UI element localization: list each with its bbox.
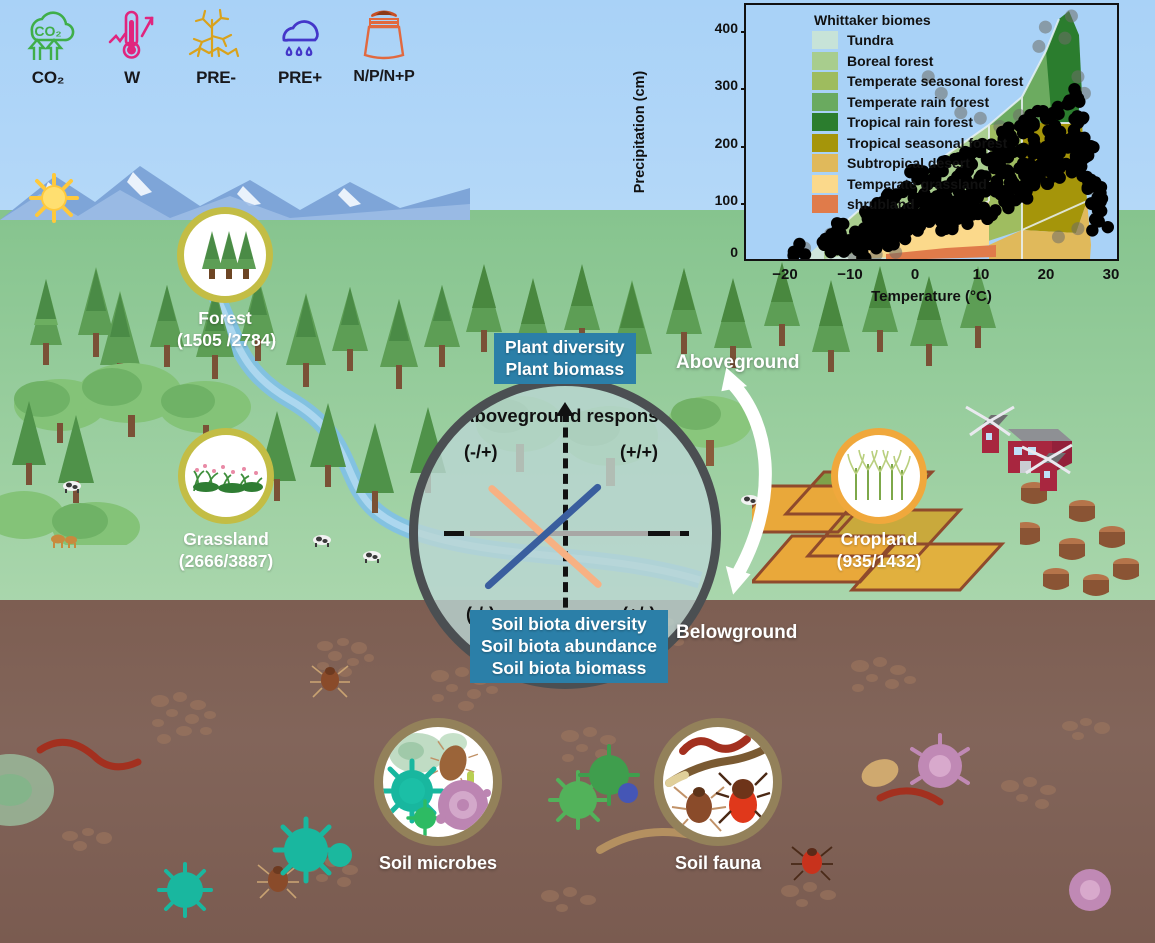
- legend-item-boreal-forest: Boreal forest: [812, 51, 1042, 72]
- y-tickmark-200: [741, 146, 746, 148]
- legend-label-subtropical-desert: Subtropical desert: [847, 155, 970, 171]
- ecosystem-counts-grassland: (2666/3887): [178, 551, 274, 572]
- y-axis-title: Precipitation (cm): [632, 71, 648, 193]
- axis-dash-left: [444, 531, 464, 536]
- y-tick-0: 0: [730, 244, 738, 260]
- whittaker-biome-chart: 400 300 200 100 0 Precipitation (cm): [688, 0, 1155, 305]
- x-tick-20: 20: [1038, 266, 1055, 283]
- legend-swatch-subtropical-desert: [812, 154, 838, 172]
- rain-cloud-icon: [270, 4, 330, 66]
- microbes-ring: [374, 718, 502, 846]
- soil-organism-name-microbes: Soil microbes: [374, 853, 502, 874]
- legend-label-tropical-rain-forest: Tropical rain forest: [847, 114, 973, 130]
- driver-co2: CO₂ CO₂: [10, 4, 86, 88]
- ecosystem-name-forest: Forest: [177, 308, 273, 329]
- chart-point: [1078, 144, 1090, 156]
- x-tick-0: 0: [911, 266, 919, 283]
- legend-swatch-tundra: [812, 31, 838, 49]
- chart-point: [1086, 224, 1098, 236]
- variable-soil-biota-abundance: Soil biota abundance: [481, 635, 657, 657]
- quadrant-label-minus-plus: (-/+): [464, 442, 498, 463]
- wheat-crop-icon: [844, 444, 914, 509]
- grass-shrubs-icon: [188, 453, 264, 500]
- y-tick-100: 100: [715, 192, 738, 208]
- chart-point: [837, 218, 849, 230]
- variable-plant-diversity: Plant diversity: [505, 336, 625, 358]
- ecosystem-name-grassland: Grassland: [178, 529, 274, 550]
- fauna-ring: [654, 718, 782, 846]
- chart-point: [793, 238, 805, 250]
- driver-warming: W: [94, 4, 170, 88]
- ecosystem-counts-cropland: (935/1432): [831, 551, 927, 572]
- legend-swatch-temperate-grassland: [812, 175, 838, 193]
- legend-swatch-shrubland: [812, 195, 838, 213]
- x-tick-neg20: −20: [772, 266, 797, 283]
- legend-swatch-tropical-rain-forest: [812, 113, 838, 131]
- cropland-ring: [831, 428, 927, 524]
- legend-label-tundra: Tundra: [847, 32, 893, 48]
- conifer-trees-icon: [190, 225, 260, 286]
- axis-dash-right-2: [680, 531, 689, 536]
- axis-dash-right-1: [648, 531, 670, 536]
- chart-point: [1052, 101, 1064, 113]
- driver-drought: PRE-: [178, 4, 254, 88]
- ecosystem-badge-grassland[interactable]: Grassland (2666/3887): [178, 428, 274, 572]
- driver-nutrient: N/P/N+P: [346, 4, 422, 86]
- global-change-driver-icons: CO₂ CO₂: [0, 0, 430, 100]
- deer-pair: [47, 528, 81, 550]
- soil-organism-name-fauna: Soil fauna: [654, 853, 782, 874]
- chart-point: [838, 245, 850, 257]
- cow-2: [310, 532, 334, 548]
- earthworm-mite-icon: [659, 721, 777, 844]
- chart-point: [1071, 222, 1084, 235]
- chart-point: [1058, 32, 1071, 45]
- legend-label-temperate-seasonal-forest: Temperate seasonal forest: [847, 73, 1023, 89]
- chart-point: [1065, 10, 1078, 23]
- cow-3: [360, 548, 384, 564]
- driver-warming-label: W: [124, 68, 140, 88]
- forest-ring: [177, 207, 273, 303]
- y-tickmark-100: [741, 203, 746, 205]
- legend-title: Whittaker biomes: [814, 12, 1042, 28]
- variable-plant-biomass: Plant biomass: [505, 358, 625, 380]
- chart-point: [1089, 213, 1101, 225]
- chart-point: [1071, 70, 1084, 83]
- grassland-ring: [178, 428, 274, 524]
- x-tick-30: 30: [1103, 266, 1120, 283]
- figure-root: CO₂ CO₂: [0, 0, 1155, 943]
- belowground-side-label: Belowground: [676, 622, 797, 644]
- legend-item-subtropical-desert: Subtropical desert: [812, 153, 1042, 174]
- legend-label-boreal-forest: Boreal forest: [847, 53, 933, 69]
- legend-label-tropical-seasonal-forest: Tropical seasonal forest: [847, 135, 1007, 151]
- cow-1: [60, 478, 84, 494]
- co2-cloud-icon: CO₂: [18, 4, 78, 66]
- legend-item-temperate-rain-forest: Temperate rain forest: [812, 92, 1042, 113]
- legend-item-tundra: Tundra: [812, 30, 1042, 51]
- chart-point: [1071, 110, 1083, 122]
- driver-rain: PRE+: [262, 4, 338, 88]
- soil-organism-badge-fauna[interactable]: Soil fauna: [654, 718, 782, 874]
- x-tick-10: 10: [973, 266, 990, 283]
- chart-point: [876, 231, 888, 243]
- legend-swatch-boreal-forest: [812, 52, 838, 70]
- legend-label-shrubland: shrubland: [847, 196, 915, 212]
- quadrant-label-plus-plus: (+/+): [620, 442, 658, 463]
- ecosystem-counts-forest: (1505 /2784): [177, 330, 273, 351]
- chart-point: [1042, 125, 1054, 137]
- chart-point: [1052, 230, 1065, 243]
- y-tickmark-300: [741, 88, 746, 90]
- legend-swatch-temperate-seasonal-forest: [812, 72, 838, 90]
- y-tick-200: 200: [715, 135, 738, 151]
- y-tickmark-400: [741, 31, 746, 33]
- chart-point: [1069, 92, 1081, 104]
- driver-nutrient-label: N/P/N+P: [353, 68, 414, 86]
- chart-point: [856, 233, 868, 245]
- y-tick-400: 400: [715, 20, 738, 36]
- chart-point: [940, 223, 952, 235]
- svg-text:CO₂: CO₂: [34, 23, 61, 39]
- legend-label-temperate-grassland: Temperate grassland: [847, 176, 987, 192]
- ecosystem-name-cropland: Cropland: [831, 529, 927, 550]
- free-microbe-shapes: [0, 735, 1111, 916]
- chart-point: [1102, 221, 1114, 233]
- legend-item-temperate-grassland: Temperate grassland: [812, 174, 1042, 195]
- chart-point: [912, 224, 924, 236]
- x-tick-neg10: −10: [837, 266, 862, 283]
- x-axis-title: Temperature (°C): [744, 288, 1119, 305]
- warming-thermometer-icon: [102, 4, 162, 66]
- y-axis: 400 300 200 100 0 Precipitation (cm): [688, 0, 738, 264]
- ecosystem-badge-forest[interactable]: Forest (1505 /2784): [177, 207, 273, 351]
- drought-cracked-soil-icon: [186, 4, 246, 66]
- chart-plot-area: Whittaker biomes Tundra Boreal forest Te…: [744, 3, 1119, 261]
- legend-swatch-tropical-seasonal-forest: [812, 134, 838, 152]
- driver-rain-label: PRE+: [278, 68, 322, 88]
- chart-point: [1087, 180, 1099, 192]
- aboveground-belowground-cycle-arrow: [700, 355, 790, 610]
- legend-item-tropical-rain-forest: Tropical rain forest: [812, 112, 1042, 133]
- legend-label-temperate-rain-forest: Temperate rain forest: [847, 94, 989, 110]
- driver-co2-label: CO₂: [32, 68, 64, 88]
- legend-item-temperate-seasonal-forest: Temperate seasonal forest: [812, 71, 1042, 92]
- chart-legend: Whittaker biomes Tundra Boreal forest Te…: [812, 10, 1042, 215]
- driver-drought-label: PRE-: [196, 68, 236, 88]
- soil-organism-badge-microbes[interactable]: Soil microbes: [374, 718, 502, 874]
- aboveground-variables-box: Plant diversity Plant biomass: [494, 333, 636, 384]
- legend-swatch-temperate-rain-forest: [812, 93, 838, 111]
- fertilizer-bag-icon: [354, 4, 414, 66]
- y-tick-300: 300: [715, 77, 738, 93]
- variable-soil-biota-biomass: Soil biota biomass: [481, 657, 657, 679]
- legend-item-tropical-seasonal-forest: Tropical seasonal forest: [812, 133, 1042, 154]
- legend-item-shrubland: shrubland: [812, 194, 1042, 215]
- belowground-variables-box: Soil biota diversity Soil biota abundanc…: [470, 610, 668, 683]
- variable-soil-biota-diversity: Soil biota diversity: [481, 613, 657, 635]
- farm-buildings: [964, 405, 1089, 505]
- ecosystem-badge-cropland[interactable]: Cropland (935/1432): [831, 428, 927, 572]
- microbes-icon: [379, 721, 497, 844]
